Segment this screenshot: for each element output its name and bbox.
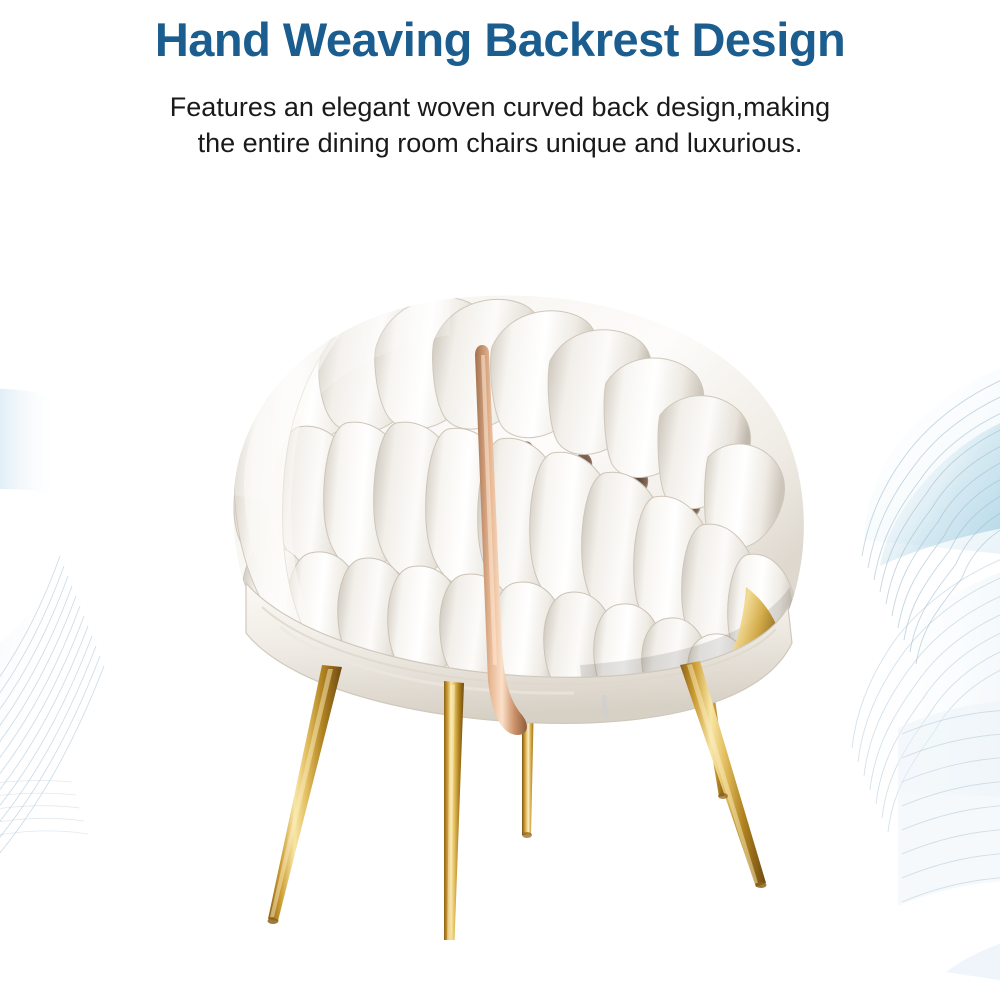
subtitle-line-1: Features an elegant woven curved back de…	[170, 92, 830, 122]
page-title: Hand Weaving Backrest Design	[0, 14, 1000, 67]
page-subtitle: Features an elegant woven curved back de…	[60, 90, 940, 162]
product-image	[150, 195, 850, 940]
subtitle-line-2: the entire dining room chairs unique and…	[198, 128, 803, 158]
product-feature-banner: Hand Weaving Backrest Design Features an…	[0, 0, 1000, 1000]
banner-header: Hand Weaving Backrest Design Features an…	[0, 0, 1000, 190]
chair-illustration	[150, 195, 850, 940]
